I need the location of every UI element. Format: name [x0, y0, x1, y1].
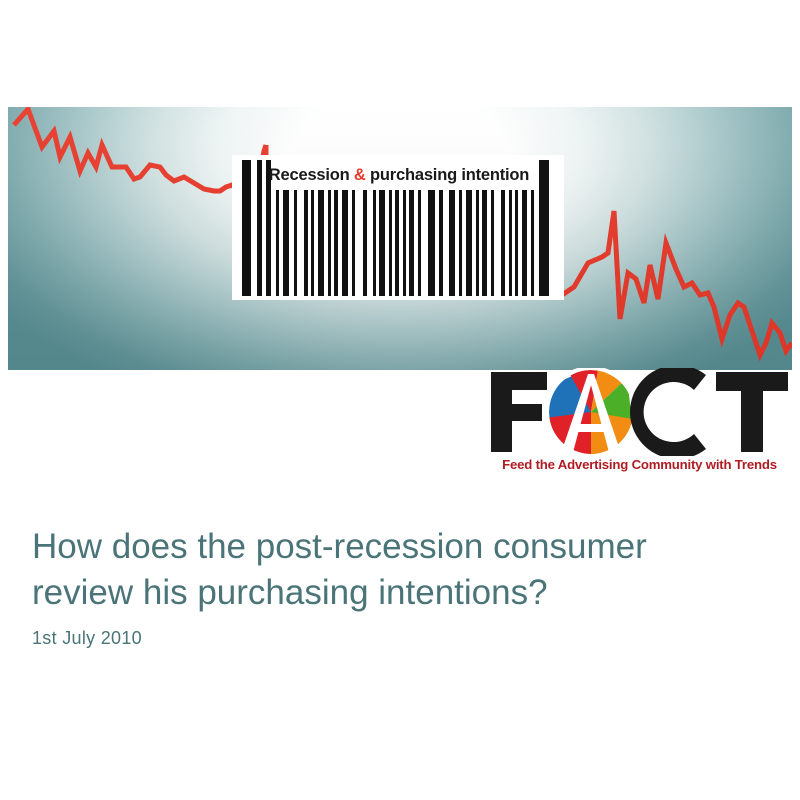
fact-logo: Feed the Advertising Community with Tren…	[487, 368, 792, 478]
logo-letter-c	[630, 368, 706, 456]
fact-wordmark	[487, 368, 792, 456]
logo-letter-t	[716, 372, 788, 452]
barcode-title-ampersand: &	[354, 166, 366, 184]
barcode-title-part2: purchasing intention	[366, 166, 530, 184]
logo-letter-a-mark	[545, 368, 639, 456]
barcode-graphic: Recession & purchasing intention	[232, 155, 564, 300]
chart-line-left	[14, 109, 266, 211]
fact-tagline: Feed the Advertising Community with Tren…	[487, 457, 792, 472]
logo-letter-f	[491, 372, 547, 452]
barcode-title-text: Recession & purchasing intention	[254, 161, 544, 189]
page-title-line2: review his purchasing intentions?	[32, 570, 762, 616]
barcode-title-part1: Recession	[269, 166, 354, 184]
chart-line-right	[559, 211, 792, 355]
page-title-line1: How does the post-recession consumer	[32, 524, 762, 570]
page-title: How does the post-recession consumer rev…	[32, 524, 762, 616]
presentation-date: 1st July 2010	[32, 628, 142, 649]
